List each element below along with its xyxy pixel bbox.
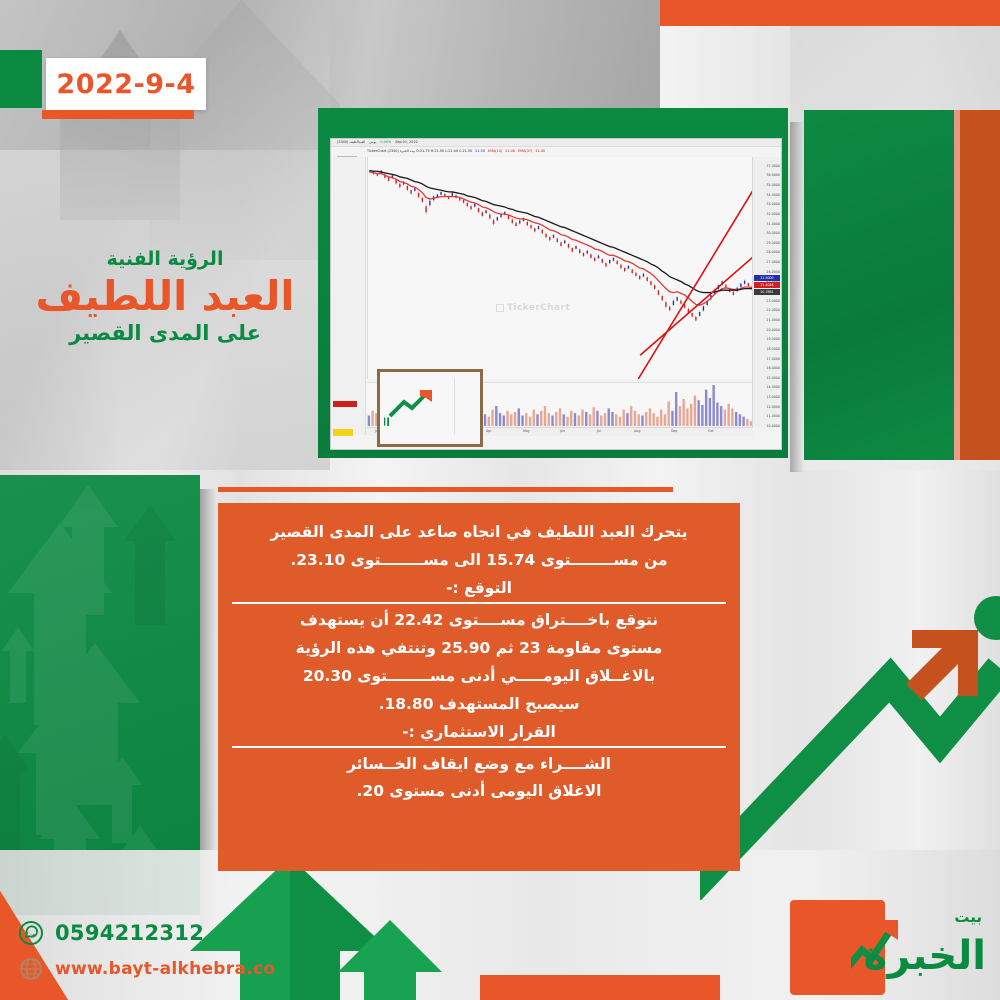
whatsapp-icon (18, 920, 44, 946)
price-tag: 21.5000 (754, 275, 780, 281)
headline-group: الرؤية الفنية العبد اللطيف على المدى الق… (0, 248, 330, 346)
volume-bar (566, 417, 568, 426)
green-up-arrow-small-icon (330, 920, 450, 1000)
volume-bar (518, 408, 520, 426)
volume-bar (705, 390, 707, 426)
chart-ohlc-row: TickerChart بيت الخبرة (2340) O:21.75 H:… (367, 148, 757, 155)
date-badge-text: 2022-9-4 (56, 69, 195, 100)
contact-phone-label: 0594212312 (55, 921, 204, 945)
price-tick-label: 13.0000 (766, 396, 780, 399)
contact-block: 0594212312 www.bayt-alkhebra.co (18, 920, 275, 992)
trendline (640, 256, 754, 355)
contact-website-label: www.bayt-alkhebra.co (55, 959, 275, 979)
volume-bar (686, 408, 688, 426)
volume-bar (581, 410, 583, 426)
volume-bar (626, 413, 628, 426)
volume-bar (735, 412, 737, 426)
chart-interval-label: يومي (369, 141, 376, 144)
analysis-line: الشــــراء مع وضع ايقاف الخــسائر (232, 753, 726, 776)
svg-text:الخبرة: الخبرة (384, 416, 390, 428)
volume-bar (667, 401, 669, 426)
date-tick-label: Oct (708, 429, 714, 433)
chart-watermark: TickerChart (496, 303, 570, 313)
price-tick-label: 16.0000 (766, 367, 780, 370)
analysis-text-panel: يتحرك العبد اللطيف في اتجاه صاعد على الم… (218, 503, 740, 871)
price-tick-label: 35.0000 (766, 184, 780, 187)
volume-bar (731, 408, 733, 426)
chart-yellow-tag (333, 429, 353, 436)
volume-bar (746, 419, 748, 426)
date-badge: 2022-9-4 (46, 58, 206, 110)
chart-logo-mark: الخبرة (384, 386, 446, 428)
chart-red-tag (333, 401, 357, 407)
analysis-line: بالاغــلاق اليومـــــي أدنى مســــــــتو… (232, 665, 726, 688)
volume-bar (503, 415, 505, 426)
volume-bar (521, 415, 523, 426)
volume-bar (637, 414, 639, 426)
background-triangle-2 (150, 0, 340, 260)
volume-bar (712, 385, 714, 426)
headline-subtitle: على المدى القصير (0, 321, 330, 346)
volume-bar (634, 411, 636, 426)
chart-change-label: 0.00% (380, 141, 391, 144)
volume-bar (529, 417, 531, 426)
volume-bar (739, 414, 741, 426)
alkhebra-logo-icon: الخبرة (384, 386, 446, 428)
price-tick-label: 22.0000 (766, 309, 780, 312)
date-tick-label: Sep (671, 429, 677, 433)
trend-zigzag-icon (700, 590, 1000, 920)
volume-bar (615, 414, 617, 426)
volume-bar (540, 411, 542, 426)
footer-orange-bar (480, 975, 720, 1000)
chart-legend-ema10: EMA(10) (488, 150, 502, 153)
arrow-pattern-icon (0, 475, 200, 915)
volume-bar (611, 412, 613, 426)
date-underline (42, 110, 194, 119)
price-tick-label: 28.0000 (766, 251, 780, 254)
volume-bar (619, 417, 621, 426)
volume-bar (649, 408, 651, 426)
trendline (638, 189, 754, 379)
volume-bar (533, 410, 535, 426)
analysis-line: التوقع :- (232, 577, 726, 600)
volume-bar (716, 403, 718, 426)
chart-legend-ema10-value: 21.46 (505, 150, 515, 153)
volume-bar (484, 414, 486, 426)
date-tick-label: Jul (597, 429, 601, 433)
top-orange-bar (660, 0, 1000, 26)
date-green-tab (0, 50, 42, 108)
volume-bar (506, 411, 508, 426)
price-tick-label: 31.0000 (766, 223, 780, 226)
price-tick-label: 10.0000 (766, 425, 780, 428)
date-tick-label: Aug (634, 429, 640, 433)
volume-bar (660, 410, 662, 426)
price-tick-label: 21.0000 (766, 319, 780, 322)
volume-bar (656, 417, 658, 426)
volume-bar (623, 410, 625, 426)
analysis-line: سيصبح المستهدف 18.80. (232, 693, 726, 716)
chart-card: العبدالطيف (2340) يومي 0.00% Sep 01, 202… (330, 138, 782, 450)
price-tick-label: 37.0000 (766, 165, 780, 168)
volume-bar (544, 406, 546, 426)
analysis-line: مستوى مقاومة 23 ثم 25.90 وتنتفي هذه الرؤ… (232, 637, 726, 660)
volume-bar (589, 414, 591, 426)
volume-bar (585, 412, 587, 426)
volume-bar (608, 408, 610, 426)
volume-bar (727, 404, 729, 426)
price-tick-label: 11.0000 (766, 415, 780, 418)
volume-bar (536, 414, 538, 426)
analysis-line: الاغلاق اليومى أدنى مستوى 20. (232, 780, 726, 803)
price-tick-label: 14.0000 (766, 386, 780, 389)
date-tick-label: Apr (486, 429, 492, 433)
right-green-block (804, 110, 954, 460)
volume-bar (697, 400, 699, 426)
chart-symbol-label: العبدالطيف (2340) (337, 141, 365, 144)
volume-bar (559, 408, 561, 426)
volume-bar (645, 412, 647, 426)
price-tick-label: 29.0000 (766, 242, 780, 245)
brand-logo: بيت الخبرة (838, 904, 988, 986)
volume-bar (525, 413, 527, 426)
chart-header-bar: العبدالطيف (2340) يومي 0.00% Sep 01, 202… (331, 139, 781, 147)
volume-bar (495, 406, 497, 426)
chart-legend-ema37: EMA(37) (518, 150, 532, 153)
price-tag: 20.7861 (754, 289, 780, 295)
left-green-arrow-panel (0, 475, 200, 915)
chart-logo-box: الخبرة (377, 369, 483, 447)
volume-bar (578, 415, 580, 426)
volume-bar (682, 399, 684, 426)
price-tick-label: 12.0000 (766, 406, 780, 409)
volume-bar (488, 417, 490, 426)
price-tick-label: 15.0000 (766, 377, 780, 380)
contact-website-row[interactable]: www.bayt-alkhebra.co (18, 956, 275, 982)
volume-bar (510, 414, 512, 426)
price-tick-label: 26.0000 (766, 271, 780, 274)
volume-bar (574, 413, 576, 426)
right-orange-column (960, 110, 1000, 460)
volume-bar (630, 406, 632, 426)
infographic-canvas: 2022-9-4 الرؤية الفنية العبد اللطيف على … (0, 0, 1000, 1000)
price-tick-label: 18.0000 (766, 348, 780, 351)
volume-bar (709, 398, 711, 426)
volume-bar (720, 406, 722, 426)
volume-bar (679, 406, 681, 426)
headline-title: العبد اللطيف (0, 273, 330, 320)
brand-name: الخبرة (864, 936, 986, 976)
volume-bar (694, 396, 696, 426)
volume-bar (514, 412, 516, 426)
moving-average-line (370, 170, 752, 292)
watermark-text: TickerChart (507, 303, 570, 313)
analysis-line: القرار الاستثماري :- (232, 721, 726, 744)
volume-bar (570, 411, 572, 426)
volume-bar (664, 414, 666, 426)
chart-legend-last: 21.50 (475, 150, 485, 153)
volume-bar (551, 415, 553, 426)
chart-plot-area: TickerChart (367, 157, 754, 379)
volume-bar (371, 411, 373, 426)
price-tick-label: 19.0000 (766, 338, 780, 341)
analysis-line: يتحرك العبد اللطيف في اتجاه صاعد على الم… (232, 521, 726, 544)
price-tick-label: 17.0000 (766, 358, 780, 361)
analysis-line: نتوقع باخــــتراق مســــتوى 22.42 أن يست… (232, 609, 726, 632)
chart-date-label: Sep 01, 2022 (395, 141, 418, 144)
price-tick-label: 36.0000 (766, 174, 780, 177)
globe-icon (18, 956, 44, 982)
volume-bar (499, 413, 501, 426)
price-tick-label: 33.0000 (766, 203, 780, 206)
volume-bar (675, 392, 677, 426)
volume-bar (491, 410, 493, 426)
price-tick-label: 30.0000 (766, 232, 780, 235)
price-tick-label: 32.0000 (766, 213, 780, 216)
price-tag: 21.4046 (754, 282, 780, 288)
contact-phone-row[interactable]: 0594212312 (18, 920, 275, 946)
date-tick-label: May (523, 429, 530, 433)
volume-bar (742, 417, 744, 426)
headline-eyebrow: الرؤية الفنية (0, 248, 330, 271)
volume-bar (724, 410, 726, 426)
chart-left-toolbar (331, 157, 366, 435)
volume-bar (548, 413, 550, 426)
section-separator (218, 487, 673, 492)
volume-bar (671, 411, 673, 426)
watermark-box-icon (496, 304, 504, 312)
volume-bar (600, 415, 602, 426)
price-tick-label: 27.0000 (766, 261, 780, 264)
price-series-svg (368, 157, 754, 379)
volume-bar (652, 413, 654, 426)
chart-price-axis: 37.000036.000035.000034.000033.000032.00… (752, 157, 781, 427)
price-tick-label: 23.0000 (766, 300, 780, 303)
chart-legend-ema37-value: 21.40 (535, 150, 545, 153)
volume-bar (563, 414, 565, 426)
chart-ohlc-label: TickerChart بيت الخبرة (2340) O:21.75 H:… (367, 150, 472, 153)
volume-bar (368, 415, 370, 426)
price-tick-label: 20.0000 (766, 329, 780, 332)
analysis-rule (232, 602, 726, 604)
volume-bar (604, 413, 606, 426)
analysis-line: من مســــــــتوى 15.74 الى مســــــــتوى… (232, 549, 726, 572)
chart-logo-divider (454, 378, 455, 434)
date-tick-label: Jun (560, 429, 565, 433)
volume-bar (555, 412, 557, 426)
brand-prefix: بيت (954, 908, 982, 926)
analysis-rule (232, 746, 726, 748)
volume-bar (593, 407, 595, 426)
volume-bar (596, 411, 598, 426)
price-tick-label: 34.0000 (766, 194, 780, 197)
volume-bar (641, 415, 643, 426)
volume-bar (701, 405, 703, 426)
volume-bar (690, 404, 692, 426)
